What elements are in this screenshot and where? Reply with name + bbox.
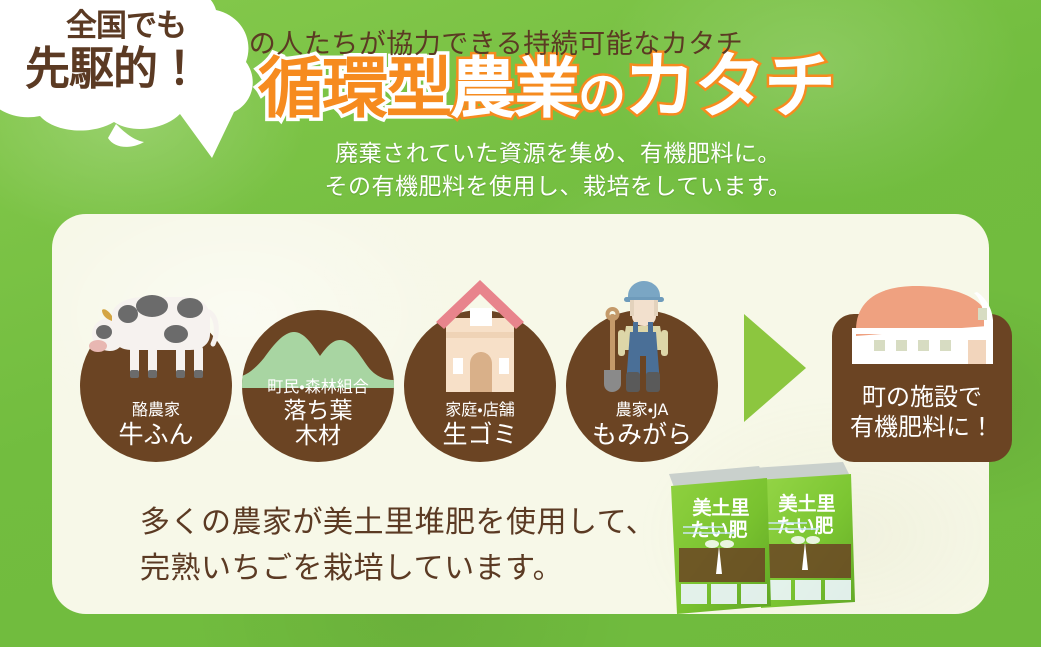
- title-segment-2: 農業: [450, 56, 578, 122]
- node-caption: 酪農家 牛ふん: [80, 396, 232, 449]
- badge-line2: 先駆的！: [0, 32, 242, 97]
- node-label-line2: 木材: [242, 424, 394, 448]
- flow-node-farmers-ja: 農家・JA もみがら: [566, 272, 718, 462]
- footer-text: 多くの農家が美土里堆肥を使用して、 完熟いちごを栽培しています。: [140, 500, 660, 591]
- node-caption: 家庭・店舗 生ゴミ: [404, 396, 556, 449]
- svg-text:たい肥: たい肥: [776, 515, 833, 537]
- flow-node-households-shops: 家庭・店舗 生ゴミ: [404, 272, 556, 462]
- node-sublabel: 農家・JA: [566, 396, 718, 420]
- subtitle-line2: その有機肥料を使用し、栽培をしています。: [258, 171, 858, 204]
- node-label-line1: 牛ふん: [80, 422, 232, 449]
- infographic-canvas: 全国でも 先駆的！ 循環型 農業 の カタチ 廃棄されていた資源を集め、有機肥料…: [0, 0, 1041, 647]
- node-sublabel: 家庭・店舗: [404, 396, 556, 420]
- title-segment-1: 循環型: [258, 56, 450, 122]
- node-caption: 農家・JA もみがら: [566, 396, 718, 449]
- title-segment-3: の: [578, 71, 624, 119]
- subtitle-line1: 廃棄されていた資源を集め、有機肥料に。: [258, 138, 858, 171]
- highlight-speech-bubble: 全国でも 先駆的！: [0, 0, 286, 202]
- svg-text:美土里: 美土里: [778, 492, 835, 515]
- result-text: 町の施設で 有機肥料に！: [832, 383, 1012, 442]
- node-label-line1: もみがら: [566, 422, 718, 449]
- node-label-line1: 落ち葉: [242, 399, 394, 423]
- flow-node-townspeople-forestry: 町民・森林組合 落ち葉 木材: [242, 272, 394, 462]
- page-subtitle: 廃棄されていた資源を集め、有機肥料に。 その有機肥料を使用し、栽培をしています。: [258, 138, 858, 203]
- node-caption: 町民・森林組合 落ち葉 木材: [242, 373, 394, 448]
- node-label-line1: 生ゴミ: [404, 422, 556, 449]
- compost-bags-photo: 美土里 たい肥 美土里 たい肥: [655, 452, 877, 622]
- right-arrow-icon: [742, 312, 808, 424]
- flow-node-dairy-farmer: 酪農家 牛ふん: [80, 272, 232, 462]
- footer-line2: 完熟いちごを栽培しています。: [140, 546, 660, 592]
- node-sublabel: 酪農家: [80, 396, 232, 420]
- result-line1: 町の施設で: [832, 383, 1012, 412]
- flow-result-facility: 町の施設で 有機肥料に！: [832, 278, 1012, 462]
- page-title: 循環型 農業 の カタチ: [258, 50, 834, 134]
- node-sublabel: 町民・森林組合: [242, 373, 394, 397]
- footer-line1: 多くの農家が美土里堆肥を使用して、: [140, 500, 660, 546]
- barn-facility-icon: [838, 278, 1010, 374]
- svg-text:たい肥: たい肥: [690, 519, 747, 541]
- material-flow-row: 酪農家 牛ふん 町民・森林組合 落ち葉 木材: [52, 272, 989, 462]
- result-line2: 有機肥料に！: [832, 413, 1012, 442]
- svg-text:美土里: 美土里: [692, 496, 749, 519]
